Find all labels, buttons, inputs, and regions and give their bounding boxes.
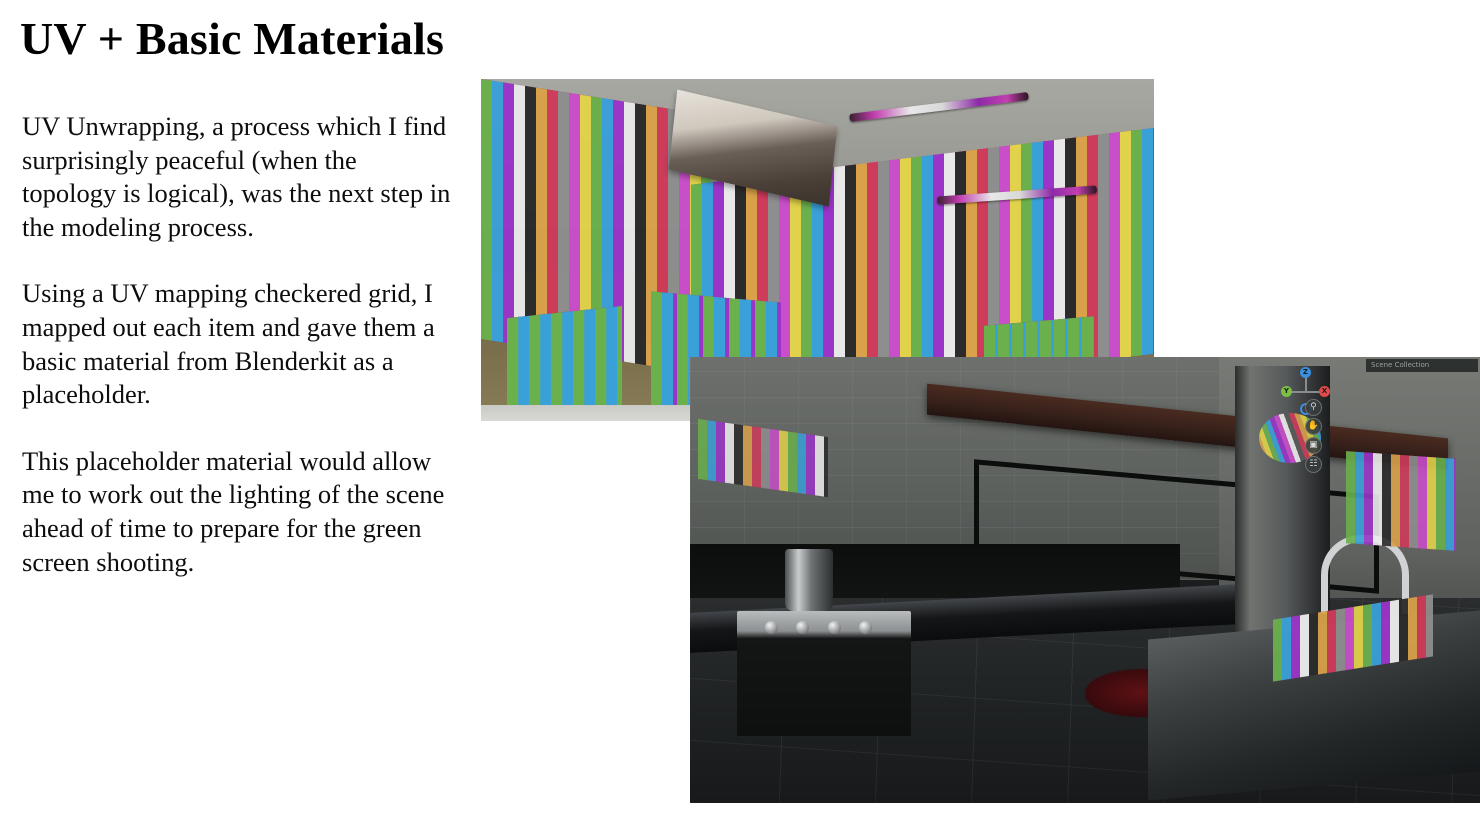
page-title: UV + Basic Materials <box>20 14 444 64</box>
uv-checker-furniture <box>507 306 622 421</box>
kitchen-fridge <box>1235 366 1330 634</box>
paragraph-placeholder-material: This placeholder material would allow me… <box>22 445 452 579</box>
stove-knob[interactable] <box>796 621 809 634</box>
stove-knob[interactable] <box>859 621 872 634</box>
body-copy: UV Unwrapping, a process which I find su… <box>22 110 452 579</box>
stove-knob[interactable] <box>828 621 841 634</box>
kitchen-render-image: Scene Collection Z Y X ⚲ ✋ ▣ ☷ <box>690 357 1480 803</box>
kitchen-stock-pot <box>785 549 833 611</box>
uv-checker-wall-panel <box>1346 451 1456 551</box>
paragraph-uv-unwrapping: UV Unwrapping, a process which I find su… <box>22 110 452 244</box>
paragraph-uv-mapping: Using a UV mapping checkered grid, I map… <box>22 277 452 411</box>
kitchen-stove <box>737 611 911 736</box>
stove-knob[interactable] <box>765 621 778 634</box>
